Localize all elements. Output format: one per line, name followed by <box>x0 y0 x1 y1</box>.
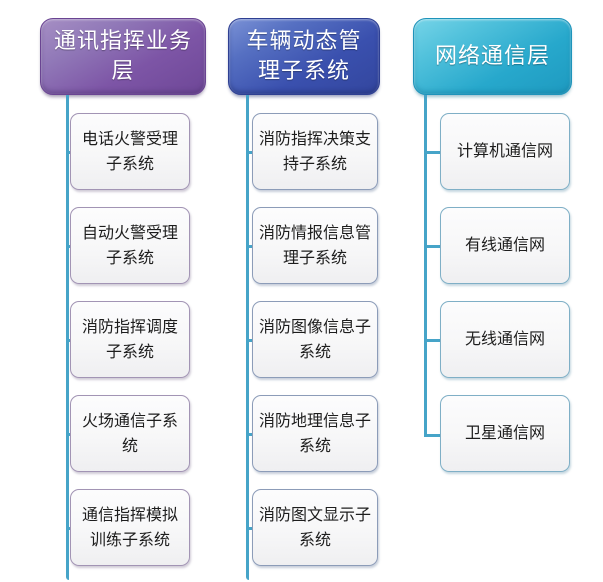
node-box-fireground-communication[interactable]: 火场通信子系统 <box>70 395 190 472</box>
node-box-fire-image-information[interactable]: 消防图像信息子系统 <box>252 301 378 378</box>
system-architecture-diagram: 通讯指挥业务层 电话火警受理子系统 自动火警受理子系统 消防指挥调度子系统 火场… <box>0 0 603 582</box>
node-box-fire-intelligence-information-management[interactable]: 消防情报信息管理子系统 <box>252 207 378 284</box>
node-box-computer-communication-network[interactable]: 计算机通信网 <box>440 113 570 190</box>
node-label: 消防图文显示子系统 <box>259 503 371 553</box>
node-label: 电话火警受理子系统 <box>77 127 183 177</box>
node-box-fire-command-decision-support[interactable]: 消防指挥决策支持子系统 <box>252 113 378 190</box>
header-label: 网络通信层 <box>424 42 561 72</box>
node-box-fire-command-dispatch[interactable]: 消防指挥调度子系统 <box>70 301 190 378</box>
header-label: 车辆动态管理子系统 <box>239 27 369 87</box>
connector-trunk-column-3 <box>424 95 427 437</box>
node-box-fire-graphic-text-display[interactable]: 消防图文显示子系统 <box>252 489 378 566</box>
header-box-vehicle-dynamic-management-subsystem[interactable]: 车辆动态管理子系统 <box>228 18 380 95</box>
node-label: 消防图像信息子系统 <box>259 315 371 365</box>
header-box-network-communication-layer[interactable]: 网络通信层 <box>413 18 572 95</box>
node-label: 无线通信网 <box>447 327 563 352</box>
node-label: 消防地理信息子系统 <box>259 409 371 459</box>
node-box-wired-communication-network[interactable]: 有线通信网 <box>440 207 570 284</box>
node-label: 消防指挥决策支持子系统 <box>259 127 371 177</box>
node-label: 火场通信子系统 <box>77 409 183 459</box>
node-label: 有线通信网 <box>447 233 563 258</box>
node-box-satellite-communication-network[interactable]: 卫星通信网 <box>440 395 570 472</box>
node-label: 计算机通信网 <box>447 139 563 164</box>
node-box-wireless-communication-network[interactable]: 无线通信网 <box>440 301 570 378</box>
node-box-communication-command-simulation-training[interactable]: 通信指挥模拟训练子系统 <box>70 489 190 566</box>
node-label: 消防指挥调度子系统 <box>77 315 183 365</box>
header-label: 通讯指挥业务层 <box>51 27 195 87</box>
header-box-communication-command-business-layer[interactable]: 通讯指挥业务层 <box>40 18 206 95</box>
node-label: 通信指挥模拟训练子系统 <box>77 503 183 553</box>
node-box-fire-geographic-information[interactable]: 消防地理信息子系统 <box>252 395 378 472</box>
connector-trunk-column-1 <box>66 95 69 580</box>
node-box-telephone-fire-alarm[interactable]: 电话火警受理子系统 <box>70 113 190 190</box>
node-label: 卫星通信网 <box>447 421 563 446</box>
connector-trunk-column-2 <box>246 95 249 580</box>
node-box-automatic-fire-alarm[interactable]: 自动火警受理子系统 <box>70 207 190 284</box>
node-label: 自动火警受理子系统 <box>77 221 183 271</box>
node-label: 消防情报信息管理子系统 <box>259 221 371 271</box>
